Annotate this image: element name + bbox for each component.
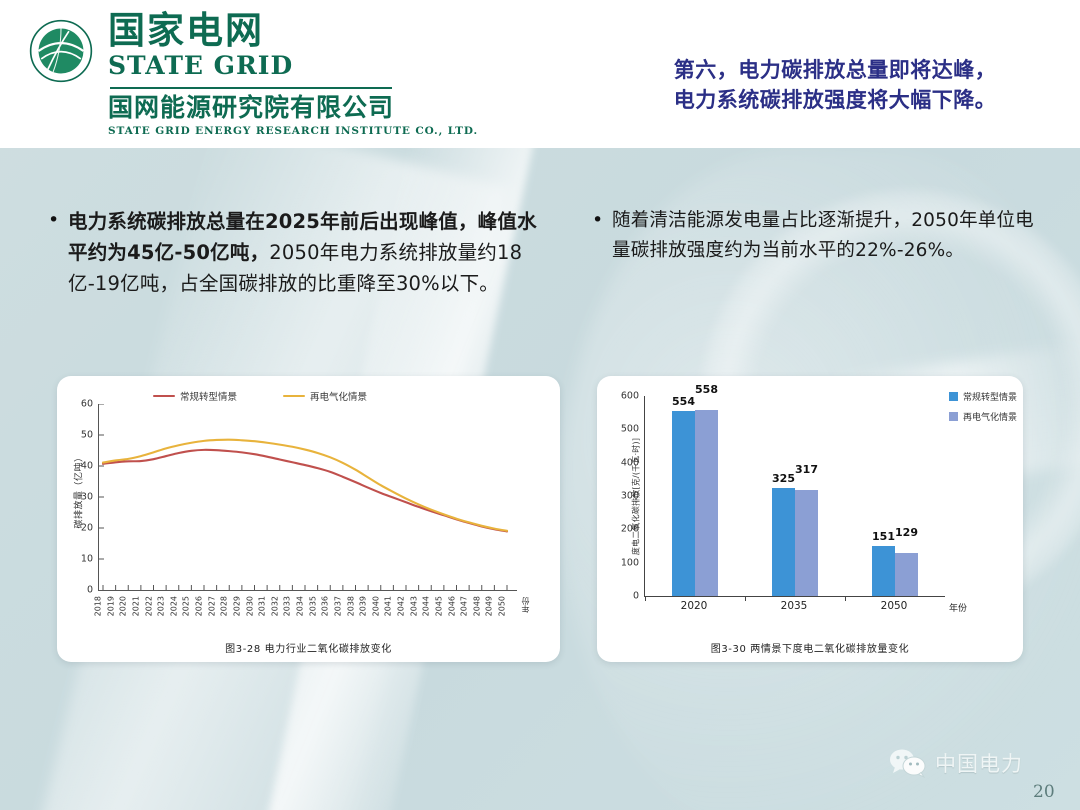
bullet-item-right: • 随着清洁能源发电量占比逐渐提升，2050年单位电量碳排放强度约为当前水平的2… bbox=[592, 206, 1052, 266]
y-tick-label: 300 bbox=[621, 491, 639, 502]
y-tick-label: 0 bbox=[633, 591, 639, 602]
x-tick-label: 2041 bbox=[384, 596, 393, 616]
legend-line-swatch bbox=[153, 395, 175, 397]
x-tick-label: 2029 bbox=[232, 596, 241, 616]
line-chart: 常规转型情景再电气化情景 碳排放量（亿吨） 0102030405060 2018… bbox=[57, 376, 560, 662]
x-tick-label: 2039 bbox=[359, 596, 368, 616]
legend-label: 再电气化情景 bbox=[310, 389, 367, 403]
bullet-marker: • bbox=[592, 206, 612, 235]
y-tick-label: 20 bbox=[81, 523, 93, 534]
bar-chart-legend-item-1: 再电气化情景 bbox=[949, 410, 1017, 423]
bar-chart-plot-area: 554558325317151129 bbox=[644, 396, 945, 597]
y-tick-label: 10 bbox=[81, 554, 93, 565]
institute-name-cn: 国网能源研究院有限公司 bbox=[108, 94, 478, 123]
line-chart-y-ticks: 0102030405060 bbox=[67, 404, 93, 590]
y-tick-label: 30 bbox=[81, 492, 93, 503]
line-chart-legend-item-0: 常规转型情景 bbox=[153, 389, 237, 403]
x-tick-label: 2023 bbox=[157, 596, 166, 616]
bar-chart-legend: 常规转型情景再电气化情景 bbox=[949, 390, 1017, 430]
y-tick-label: 500 bbox=[621, 424, 639, 435]
legend-color-swatch bbox=[949, 392, 958, 401]
line-chart-card: 常规转型情景再电气化情景 碳排放量（亿吨） 0102030405060 2018… bbox=[57, 376, 560, 662]
bullet-text-right: 随着清洁能源发电量占比逐渐提升，2050年单位电量碳排放强度约为当前水平的22%… bbox=[612, 206, 1052, 266]
x-tick-label: 2031 bbox=[258, 596, 267, 616]
bar-group: 554558 bbox=[672, 410, 718, 596]
slide-header: 国家电网 STATE GRID 国网能源研究院有限公司 STATE GRID E… bbox=[0, 0, 1080, 148]
x-tick-label: 2026 bbox=[195, 596, 204, 616]
x-tick-label: 2037 bbox=[333, 596, 342, 616]
slide: 国家电网 STATE GRID 国网能源研究院有限公司 STATE GRID E… bbox=[0, 0, 1080, 810]
x-tick-label: 2034 bbox=[296, 596, 305, 616]
bar-2035-series-1: 317 bbox=[795, 490, 818, 596]
logo-title-cn: 国家电网 bbox=[108, 12, 478, 51]
bar-value-label: 151 bbox=[872, 530, 895, 543]
y-tick-label: 60 bbox=[81, 399, 93, 410]
y-tick-label: 400 bbox=[621, 457, 639, 468]
x-tick-label: 2047 bbox=[460, 596, 469, 616]
bar-group: 325317 bbox=[772, 488, 818, 596]
page-title-line2: 电力系统碳排放强度将大幅下降。 bbox=[620, 86, 1050, 116]
bar-chart-x-ticks: 202020352050 bbox=[644, 600, 944, 616]
wechat-account-name: 中国电力 bbox=[935, 748, 1023, 778]
bullet-section: • 电力系统碳排放总量在2025年前后出现峰值，峰值水平约为45亿-50亿吨，2… bbox=[0, 198, 1080, 348]
bar-2050-series-1: 129 bbox=[895, 553, 918, 596]
bar-2035-series-0: 325 bbox=[772, 488, 795, 596]
x-tick-label: 2030 bbox=[245, 596, 254, 616]
y-tick-label: 600 bbox=[621, 391, 639, 402]
x-tick-label: 2045 bbox=[434, 596, 443, 616]
wechat-icon bbox=[888, 748, 928, 778]
legend-label: 常规转型情景 bbox=[180, 389, 237, 403]
y-tick-label: 40 bbox=[81, 461, 93, 472]
legend-color-swatch bbox=[949, 412, 958, 421]
bar-2020-series-0: 554 bbox=[672, 411, 695, 596]
x-tick-label: 2019 bbox=[106, 596, 115, 616]
line-chart-legend-item-1: 再电气化情景 bbox=[283, 389, 367, 403]
y-tick-label: 200 bbox=[621, 524, 639, 535]
y-tick-label: 100 bbox=[621, 557, 639, 568]
bar-chart-legend-item-0: 常规转型情景 bbox=[949, 390, 1017, 403]
logo-title-en: STATE GRID bbox=[108, 52, 478, 81]
x-tick-label: 2021 bbox=[131, 596, 140, 616]
x-tick-label: 2022 bbox=[144, 596, 153, 616]
bar-chart-caption: 图3-30 两情景下度电二氧化碳排放量变化 bbox=[597, 640, 1023, 655]
legend-label: 常规转型情景 bbox=[963, 390, 1017, 403]
bar-chart-card: 度电二氧化碳排放[克/(千瓦·时)] 常规转型情景再电气化情景 01002003… bbox=[597, 376, 1023, 662]
bar-value-label: 129 bbox=[895, 526, 918, 539]
bar-2020-series-1: 558 bbox=[695, 410, 718, 596]
x-tick-label: 2048 bbox=[472, 596, 481, 616]
x-tick-label: 2020 bbox=[681, 600, 708, 612]
x-tick-label: 2038 bbox=[346, 596, 355, 616]
bar-value-label: 558 bbox=[695, 383, 718, 396]
bullet-column-left: • 电力系统碳排放总量在2025年前后出现峰值，峰值水平约为45亿-50亿吨，2… bbox=[48, 206, 548, 300]
line-chart-plot-area bbox=[98, 404, 517, 591]
bar-group: 151129 bbox=[872, 546, 918, 596]
bar-value-label: 317 bbox=[795, 463, 818, 476]
y-tick-label: 0 bbox=[87, 585, 93, 596]
x-tick-label: 2035 bbox=[781, 600, 808, 612]
line-chart-caption: 图3-28 电力行业二氧化碳排放变化 bbox=[57, 640, 560, 655]
x-tick-label: 2028 bbox=[220, 596, 229, 616]
institute-name-en: STATE GRID ENERGY RESEARCH INSTITUTE CO.… bbox=[108, 125, 478, 137]
x-tick-label: 2043 bbox=[409, 596, 418, 616]
y-tick-label: 50 bbox=[81, 430, 93, 441]
line-chart-x-axis-label: 年份 bbox=[520, 597, 531, 613]
x-tick-label: 2046 bbox=[447, 596, 456, 616]
bullet-text-left: 电力系统碳排放总量在2025年前后出现峰值，峰值水平约为45亿-50亿吨，205… bbox=[68, 206, 548, 300]
x-tick-label: 2035 bbox=[308, 596, 317, 616]
x-tick-label: 2032 bbox=[270, 596, 279, 616]
bar-chart-y-ticks: 0100200300400500600 bbox=[609, 396, 639, 596]
line-chart-legend: 常规转型情景再电气化情景 bbox=[153, 389, 367, 403]
bullet-item-left: • 电力系统碳排放总量在2025年前后出现峰值，峰值水平约为45亿-50亿吨，2… bbox=[48, 206, 548, 300]
bar-chart: 度电二氧化碳排放[克/(千瓦·时)] 常规转型情景再电气化情景 01002003… bbox=[597, 376, 1023, 662]
bar-value-label: 325 bbox=[772, 472, 795, 485]
x-tick-label: 2049 bbox=[485, 596, 494, 616]
wechat-watermark: 中国电力 bbox=[888, 748, 1023, 778]
state-grid-logo: 国家电网 STATE GRID 国网能源研究院有限公司 STATE GRID E… bbox=[28, 12, 478, 137]
x-tick-label: 2024 bbox=[169, 596, 178, 616]
page-title: 第六，电力碳排放总量即将达峰， 电力系统碳排放强度将大幅下降。 bbox=[620, 56, 1050, 116]
line-chart-x-ticks: 2018201920202021202220232024202520262027… bbox=[98, 596, 516, 642]
legend-label: 再电气化情景 bbox=[963, 410, 1017, 423]
page-number: 20 bbox=[1033, 782, 1055, 802]
x-tick-label: 2042 bbox=[397, 596, 406, 616]
x-tick-label: 2036 bbox=[321, 596, 330, 616]
x-tick-label: 2025 bbox=[182, 596, 191, 616]
bar-value-label: 554 bbox=[672, 395, 695, 408]
x-tick-label: 2050 bbox=[881, 600, 908, 612]
bullet-marker: • bbox=[48, 206, 68, 235]
logo-divider bbox=[110, 87, 392, 89]
bullet-column-right: • 随着清洁能源发电量占比逐渐提升，2050年单位电量碳排放强度约为当前水平的2… bbox=[592, 206, 1052, 266]
x-tick-label: 2044 bbox=[422, 596, 431, 616]
x-tick-label: 2050 bbox=[498, 596, 507, 616]
x-tick-label: 2027 bbox=[207, 596, 216, 616]
x-tick-label: 2040 bbox=[371, 596, 380, 616]
line-series-0 bbox=[103, 450, 507, 532]
x-tick-label: 2018 bbox=[94, 596, 103, 616]
x-tick-label: 2020 bbox=[119, 596, 128, 616]
bar-chart-x-axis-label: 年份 bbox=[949, 601, 967, 614]
x-tick-label: 2033 bbox=[283, 596, 292, 616]
legend-line-swatch bbox=[283, 395, 305, 397]
page-title-line1: 第六，电力碳排放总量即将达峰， bbox=[620, 56, 1050, 86]
bar-2050-series-0: 151 bbox=[872, 546, 895, 596]
line-chart-svg bbox=[99, 404, 517, 590]
state-grid-globe-icon bbox=[28, 18, 94, 84]
